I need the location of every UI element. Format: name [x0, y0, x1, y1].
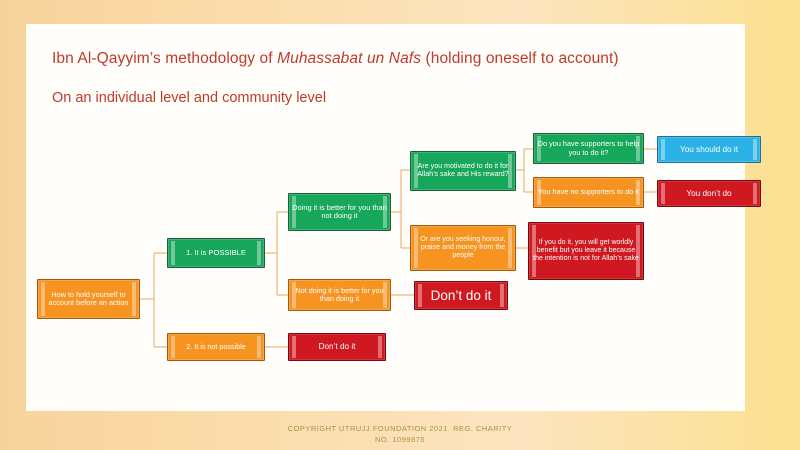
node-motivated-for-allah[interactable]: Are you motivated to do it for Allah’s s… [410, 151, 516, 191]
node-dont-do-it-lower[interactable]: Don’t do it [288, 333, 386, 361]
node-possible-label: 1. It is POSSIBLE [170, 249, 262, 258]
node-doing-better-label: Doing it is better for you than not doin… [291, 204, 388, 221]
node-worldly-benefit[interactable]: If you do it, you will get worldly benef… [528, 222, 644, 280]
node-you-should-do-it[interactable]: You should do it [657, 136, 761, 163]
node-no-supporters[interactable]: You have no supporters to do it [533, 177, 644, 208]
slide: Ibn Al-Qayyim’s methodology of Muhassaba… [0, 0, 800, 450]
node-seeking-honour[interactable]: Or are you seeking honour, praise and mo… [410, 225, 516, 271]
connector-lines [0, 0, 800, 450]
footer-copyright: COPYRIGHT UTRUJJ FOUNDATION 2021. REG. C… [0, 424, 800, 445]
node-not-doing-better-label: Not doing it is better for you than doin… [291, 287, 388, 303]
node-have-supporters[interactable]: Do you have supporters to help you to do… [533, 133, 644, 164]
node-not-doing-better[interactable]: Not doing it is better for you than doin… [288, 279, 391, 311]
node-root[interactable]: How to hold yourself to account before a… [37, 279, 140, 319]
node-no-supporters-label: You have no supporters to do it [536, 188, 641, 196]
node-have-supporters-label: Do you have supporters to help you to do… [536, 140, 641, 156]
node-motivated-for-allah-label: Are you motivated to do it for Allah’s s… [413, 163, 513, 179]
footer-line-1: COPYRIGHT UTRUJJ FOUNDATION 2021. REG. C… [0, 424, 800, 435]
node-dont-do-it-lower-label: Don’t do it [291, 342, 383, 351]
node-possible[interactable]: 1. It is POSSIBLE [167, 238, 265, 268]
node-you-dont-do[interactable]: You don’t do [657, 180, 761, 207]
node-not-possible[interactable]: 2. It is not possible [167, 333, 265, 361]
node-not-possible-label: 2. It is not possible [170, 343, 262, 351]
node-you-should-do-it-label: You should do it [660, 145, 758, 154]
node-you-dont-do-label: You don’t do [660, 189, 758, 198]
node-worldly-benefit-label: If you do it, you will get worldly benef… [531, 239, 641, 262]
node-dont-do-it-upper[interactable]: Don’t do it [414, 281, 508, 310]
node-dont-do-it-upper-label: Don’t do it [417, 288, 505, 303]
node-seeking-honour-label: Or are you seeking honour, praise and mo… [413, 236, 513, 260]
footer-line-2: NO. 1099875 [0, 435, 800, 446]
node-root-label: How to hold yourself to account before a… [40, 291, 137, 307]
node-doing-better[interactable]: Doing it is better for you than not doin… [288, 193, 391, 231]
